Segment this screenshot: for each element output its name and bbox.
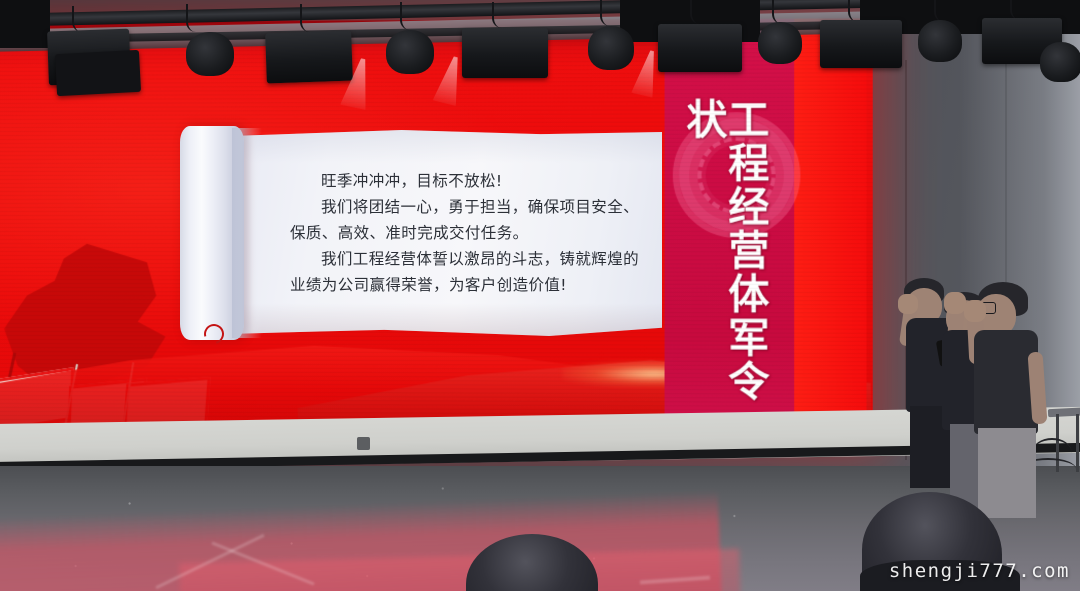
- light-cable: [600, 0, 618, 26]
- led-right-panel: [794, 18, 866, 443]
- scroll-line-3: 我们工程经营体誓以激昂的斗志，铸就辉煌的业绩为公司赢得荣誉，为客户创造价值!: [290, 246, 650, 298]
- scroll-banner: 旺季冲冲冲，目标不放松! 我们将团结一心，勇于担当，确保项目安全、保质、高效、准…: [180, 130, 662, 336]
- watermark: shengji777.com: [889, 560, 1070, 582]
- scroll-text-block: 旺季冲冲冲，目标不放松! 我们将团结一心，勇于担当，确保项目安全、保质、高效、准…: [290, 168, 650, 298]
- stage-light-fixture: [265, 31, 353, 84]
- light-cable: [690, 0, 708, 24]
- light-cable: [300, 4, 318, 32]
- scroll-line-1: 旺季冲冲冲，目标不放松!: [290, 168, 650, 194]
- stage-light-fixture: [462, 28, 548, 78]
- scroll-roll-fold: [232, 128, 262, 338]
- scroll-line-2: 我们将团结一心，勇于担当，确保项目安全、保质、高效、准时完成交付任务。: [290, 194, 650, 246]
- stage-light-par: [588, 26, 634, 70]
- light-cable: [186, 4, 206, 32]
- light-cable: [848, 0, 864, 22]
- stage-light-par: [186, 32, 234, 76]
- stage-light-par: [1040, 42, 1080, 82]
- stage-light-par: [386, 30, 434, 74]
- light-cable: [1010, 0, 1024, 20]
- fist: [944, 292, 966, 314]
- stage-photo: 工程经营体军令状 旺季冲冲冲，目标不放松! 我们将团结一心，勇于担当，确保项目安…: [0, 0, 1080, 591]
- table-leg: [1076, 414, 1079, 472]
- light-cable: [772, 0, 788, 24]
- light-cable: [400, 2, 420, 30]
- stage-light-fixture: [658, 24, 742, 72]
- light-cable: [492, 2, 510, 28]
- stage-light-par: [758, 22, 802, 64]
- wall-outlet-icon: [357, 437, 370, 450]
- stage-light-barndoor: [55, 50, 141, 96]
- light-cable: [934, 0, 950, 22]
- led-vertical-title: 工程经营体军令状: [695, 98, 765, 443]
- legs: [978, 428, 1036, 518]
- torso: [974, 330, 1038, 434]
- fist: [964, 300, 986, 322]
- light-cable: [72, 6, 90, 32]
- truss-end-block: [0, 0, 50, 48]
- fist: [898, 294, 918, 314]
- stage-light-par: [918, 20, 962, 62]
- stage-light-fixture: [820, 20, 902, 68]
